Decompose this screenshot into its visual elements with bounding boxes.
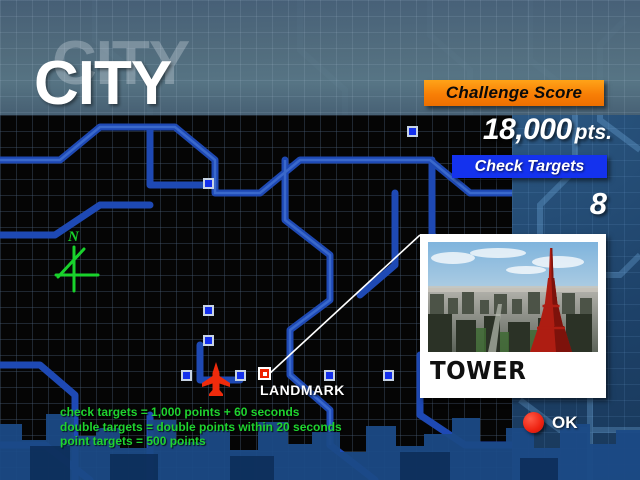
score-display: 18,000pts. — [483, 113, 612, 147]
challenge-score-banner: Challenge Score — [424, 80, 604, 106]
page-title: CITY — [34, 48, 171, 119]
map-marker-4[interactable] — [181, 370, 192, 381]
scoring-rules: check targets = 1,000 points + 60 second… — [60, 405, 342, 449]
compass-north-label: N — [68, 229, 79, 246]
map-marker-2[interactable] — [203, 305, 214, 316]
ok-button-label: OK — [552, 413, 578, 433]
ok-button-icon — [523, 412, 544, 433]
landmark-name: TOWER — [430, 356, 526, 385]
score-value: 18,000 — [483, 113, 572, 146]
map-marker-1[interactable] — [203, 178, 214, 189]
rule-line-3: point targets = 500 points — [60, 434, 342, 449]
landmark-photo — [428, 242, 598, 352]
check-targets-banner[interactable]: Check Targets — [452, 155, 607, 178]
compass-rose: N — [48, 233, 106, 300]
ok-button[interactable]: OK — [523, 412, 578, 433]
game-screen: CITY CITY — [0, 0, 640, 480]
check-targets-label: Check Targets — [475, 158, 585, 176]
map-marker-0[interactable] — [407, 126, 418, 137]
score-unit: pts. — [575, 121, 612, 144]
map-marker-7[interactable] — [383, 370, 394, 381]
map-marker-6[interactable] — [324, 370, 335, 381]
map-marker-5[interactable] — [235, 370, 246, 381]
rule-line-2: double targets = double points within 20… — [60, 420, 342, 435]
landmark-photo-card[interactable]: TOWER — [420, 234, 606, 398]
map-marker-3[interactable] — [203, 335, 214, 346]
target-count: 8 — [590, 186, 607, 222]
rule-line-1: check targets = 1,000 points + 60 second… — [60, 405, 342, 420]
selected-target-marker[interactable] — [258, 367, 271, 380]
challenge-score-label: Challenge Score — [446, 83, 582, 103]
